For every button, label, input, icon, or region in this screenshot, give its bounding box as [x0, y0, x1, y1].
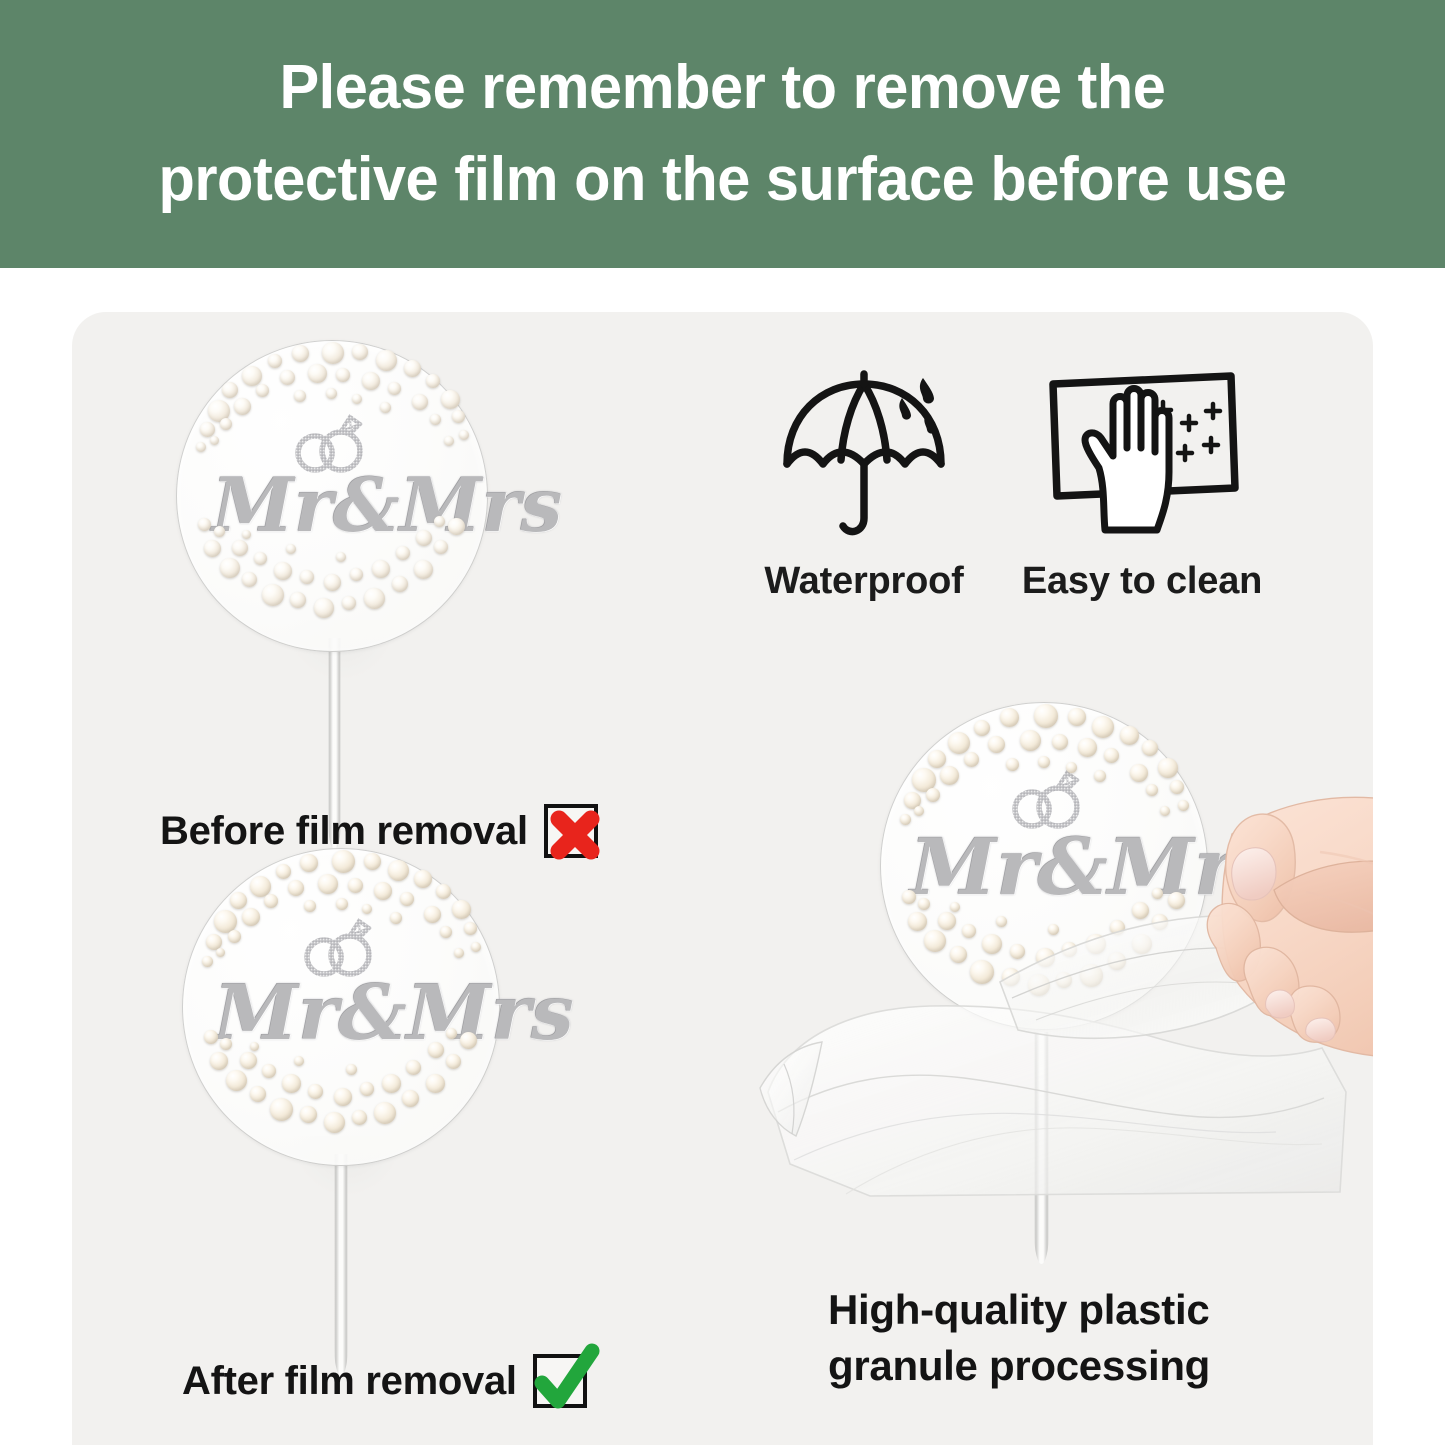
feature-easy-to-clean: Easy to clean [992, 360, 1292, 603]
topper-disc: Mr&Mrs [176, 340, 488, 652]
status-badge-positive [533, 1354, 587, 1408]
caption-text: Before film removal [160, 809, 528, 854]
caption-line-2: granule processing [828, 1338, 1248, 1394]
hand-wiping-surface-icon [1039, 360, 1245, 546]
red-x-icon [539, 799, 611, 871]
topper-stake [334, 1154, 348, 1376]
caption-before-film-removal: Before film removal [160, 804, 598, 858]
status-badge-negative [544, 804, 598, 858]
green-check-icon [528, 1349, 600, 1421]
caption-high-quality-plastic: High-quality plastic granule processing [828, 1282, 1248, 1394]
header-title-line-1: Please remember to remove the [280, 42, 1166, 134]
feature-waterproof: Waterproof [734, 360, 994, 603]
caption-text: After film removal [182, 1359, 517, 1404]
topper-after-removal: Mr&Mrs [182, 848, 512, 1378]
caption-after-film-removal: After film removal [182, 1354, 587, 1408]
feature-label: Easy to clean [992, 560, 1292, 603]
topper-film-peel-demo: Mr&Mrs [790, 702, 1350, 1292]
header-title-line-2: protective film on the surface before us… [158, 134, 1286, 226]
header-banner: Please remember to remove the protective… [0, 0, 1445, 268]
umbrella-icon [771, 360, 957, 546]
feature-label: Waterproof [734, 560, 994, 603]
content-panel: Mr&Mrs [72, 312, 1373, 1445]
topper-before-removal: Mr&Mrs [176, 340, 506, 850]
hand-peeling-film [1120, 762, 1373, 1092]
topper-stake [1034, 1032, 1049, 1264]
caption-line-1: High-quality plastic [828, 1282, 1248, 1338]
topper-disc: Mr&Mrs [182, 848, 500, 1166]
